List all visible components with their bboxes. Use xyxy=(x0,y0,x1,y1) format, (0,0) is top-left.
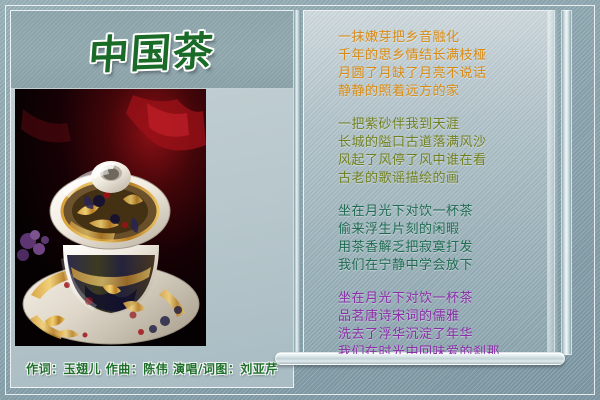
lyrics-line: 千年的思乡情结长满枝桠 xyxy=(338,47,554,65)
lyrics-line: 一把紫砂伴我到天涯 xyxy=(338,116,554,134)
lyrics-content: 一抹嫩芽把乡音融化千年的思乡情结长满枝桠月圆了月缺了月亮不说话静静的照着远方的家… xyxy=(304,11,554,355)
lyrics-line: 月圆了月缺了月亮不说话 xyxy=(338,65,554,83)
lyrics-line: 静静的照着远方的家 xyxy=(338,83,554,101)
lyrics-line: 洗去了浮华沉淀了年华 xyxy=(338,326,554,344)
vertical-scroll-bar[interactable] xyxy=(561,10,572,355)
lyrics-line: 坐在月光下对饮一杯茶 xyxy=(338,203,554,221)
tea-cup-photo xyxy=(15,89,206,346)
lyrics-stanza: 一抹嫩芽把乡音融化千年的思乡情结长满枝桠月圆了月缺了月亮不说话静静的照着远方的家 xyxy=(338,29,554,101)
app-window: 中国茶 xyxy=(0,0,600,400)
lyrics-line: 用茶香解乏把寂寞打发 xyxy=(338,239,554,257)
vertical-divider xyxy=(293,10,301,355)
lyrics-line: 一抹嫩芽把乡音融化 xyxy=(338,29,554,47)
lyrics-line: 坐在月光下对饮一杯茶 xyxy=(338,290,554,308)
lyrics-stanza: 一把紫砂伴我到天涯长城的隘口古道落满风沙风起了风停了风中谁在看古老的歌谣描绘的画 xyxy=(338,116,554,188)
credits-line: 作词：玉翅儿 作曲：陈伟 演唱/词图：刘亚芹 xyxy=(11,360,293,377)
lyrics-line: 长城的隘口古道落满风沙 xyxy=(338,134,554,152)
lyrics-stanza: 坐在月光下对饮一杯茶品茗唐诗宋词的儒雅洗去了浮华沉淀了年华我们在时光中回味爱的刹… xyxy=(338,290,554,355)
lyrics-panel: 一抹嫩芽把乡音融化千年的思乡情结长满枝桠月圆了月缺了月亮不说话静静的照着远方的家… xyxy=(303,10,555,355)
lyrics-line: 风起了风停了风中谁在看 xyxy=(338,152,554,170)
lyrics-line: 古老的歌谣描绘的画 xyxy=(338,170,554,188)
page-title: 中国茶 xyxy=(87,18,217,80)
left-panel: 中国茶 xyxy=(10,10,294,388)
gaiwan-illustration xyxy=(15,89,206,346)
lyrics-line: 偷来浮生片刻的闲暇 xyxy=(338,221,554,239)
lyrics-line: 我们在宁静中学会放下 xyxy=(338,257,554,275)
title-header-bar: 中国茶 xyxy=(11,11,293,89)
lyrics-line: 品茗唐诗宋词的儒雅 xyxy=(338,308,554,326)
lyrics-line: 我们在时光中回味爱的刹那 xyxy=(338,344,554,355)
lyrics-stanza: 坐在月光下对饮一杯茶偷来浮生片刻的闲暇用茶香解乏把寂寞打发我们在宁静中学会放下 xyxy=(338,203,554,275)
